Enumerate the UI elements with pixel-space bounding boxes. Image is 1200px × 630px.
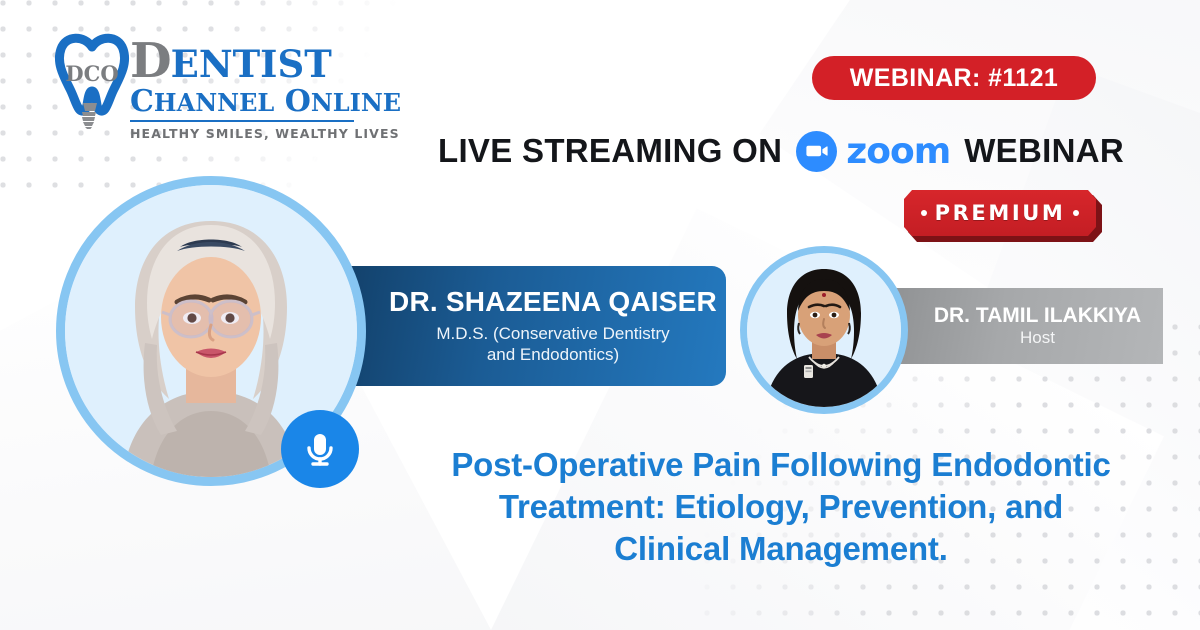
brand-divider xyxy=(130,120,354,122)
webinar-title-line2: Treatment: Etiology, Prevention, and xyxy=(499,488,1063,525)
zoom-wordmark: zoom xyxy=(846,131,950,172)
speaker-credentials: M.D.S. (Conservative Dentistry and Endod… xyxy=(436,323,669,366)
webinar-poster: DCO DENTIST CHANNEL ONLINE HEALTHY SMILE… xyxy=(0,0,1200,630)
host-avatar xyxy=(740,246,908,414)
brand-o: O xyxy=(285,84,311,119)
microphone-badge xyxy=(281,410,359,488)
premium-label: PREMIUM xyxy=(935,201,1066,225)
webinar-word-label: WEBINAR xyxy=(964,132,1124,170)
brand-name-line1: DENTIST xyxy=(130,37,355,85)
brand-initial: D xyxy=(130,33,171,89)
webinar-title-line3: Clinical Management. xyxy=(614,530,947,567)
host-name-plate: DR. TAMIL ILAKKIYA Host xyxy=(870,288,1163,364)
brand-name-rest: ENTIST xyxy=(171,42,332,86)
zoom-logo[interactable]: zoom xyxy=(796,131,950,172)
speaker-credentials-line2: and Endodontics) xyxy=(487,345,619,364)
brand-c: C xyxy=(130,84,154,119)
tooth-implant-logo-icon: DCO xyxy=(52,33,132,129)
brand-logo[interactable]: DCO DENTIST CHANNEL ONLINE HEALTHY SMILE… xyxy=(52,33,352,133)
speaker-name: DR. SHAZEENA QAISER xyxy=(389,287,717,318)
host-name: DR. TAMIL ILAKKIYA xyxy=(934,304,1141,327)
host-portrait-illustration xyxy=(747,253,901,407)
premium-dot-left-icon xyxy=(921,210,927,216)
premium-dot-right-icon xyxy=(1073,210,1079,216)
live-streaming-label: LIVE STREAMING ON xyxy=(438,132,782,170)
webinar-title-line1: Post-Operative Pain Following Endodontic xyxy=(451,446,1110,483)
microphone-icon xyxy=(298,427,342,471)
premium-ribbon[interactable]: PREMIUM xyxy=(904,190,1102,242)
brand-hannel: HANNEL xyxy=(154,88,274,117)
brand-wordmark: DENTIST CHANNEL ONLINE HEALTHY SMILES, W… xyxy=(130,37,355,141)
logo-inner-text: DCO xyxy=(65,61,118,86)
brand-name-line2: CHANNEL ONLINE xyxy=(130,87,355,117)
video-camera-icon xyxy=(796,131,837,172)
live-streaming-row: LIVE STREAMING ON zoom WEBINAR xyxy=(438,128,1124,174)
speaker-name-plate: DR. SHAZEENA QAISER M.D.S. (Conservative… xyxy=(318,266,726,386)
brand-nline: NLINE xyxy=(311,88,401,117)
host-role: Host xyxy=(1020,329,1055,348)
premium-ribbon-face: PREMIUM xyxy=(904,190,1096,236)
webinar-number-badge[interactable]: WEBINAR: #1121 xyxy=(812,56,1096,100)
speaker-credentials-line1: M.D.S. (Conservative Dentistry xyxy=(436,324,669,343)
brand-tagline: HEALTHY SMILES, WEALTHY LIVES xyxy=(130,126,355,141)
webinar-title: Post-Operative Pain Following Endodontic… xyxy=(396,444,1166,571)
